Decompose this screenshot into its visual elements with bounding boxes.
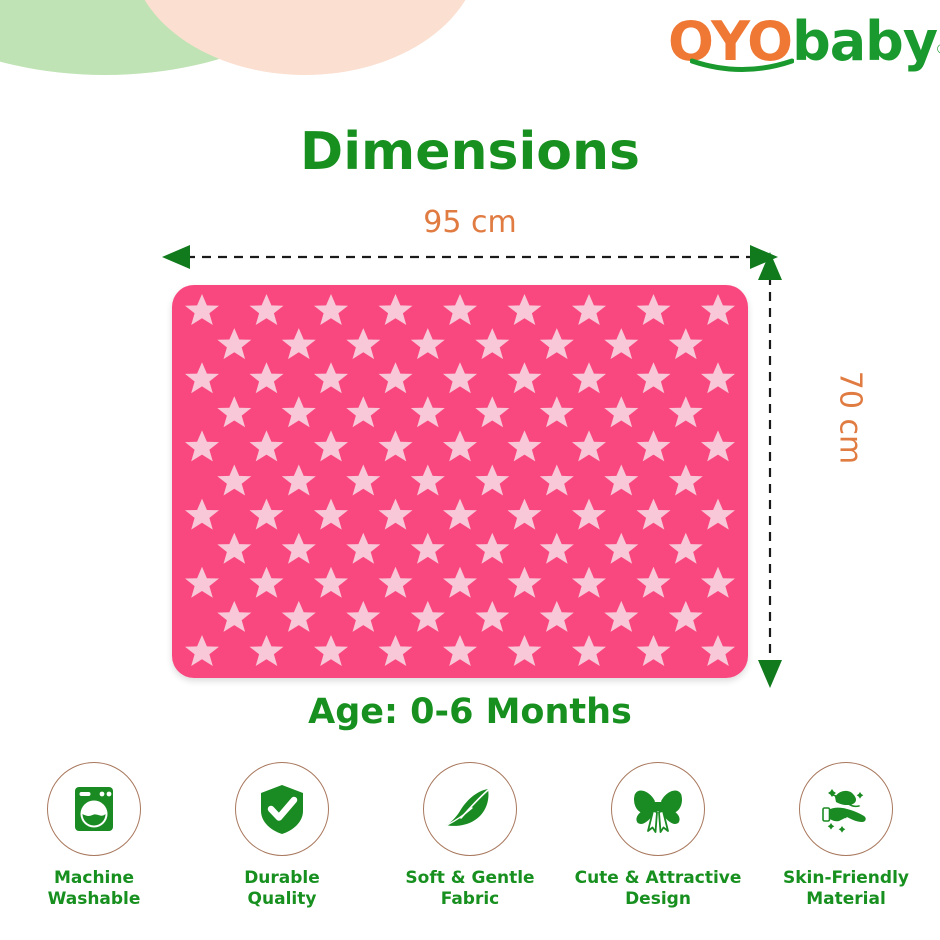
feature-icon-circle [235,762,329,856]
feature-label-line2: Quality [248,889,317,909]
page-title: Dimensions [0,122,940,182]
feature-label: Skin-Friendly Material [757,868,935,911]
bow-ribbon-icon [629,781,687,837]
feature-label-line1: Cute & Attractive [575,868,742,888]
feature-item-soft-gentle-fabric: Soft & Gentle Fabric [381,762,559,911]
feature-icon-circle [423,762,517,856]
feature-label-line2: Material [806,889,886,909]
feature-item-cute-attractive-design: Cute & Attractive Design [569,762,747,911]
feature-label-line2: Washable [48,889,141,909]
feature-list: Machine Washable Durable Quality Soft & … [0,762,940,911]
shield-check-icon [254,781,310,837]
feature-label: Cute & Attractive Design [569,868,747,911]
feature-label-line2: Design [625,889,691,909]
feature-label-line1: Skin-Friendly [783,868,909,888]
product-mat-image [172,285,748,678]
feature-label-line1: Machine [54,868,134,888]
feature-label-line1: Soft & Gentle [405,868,534,888]
logo-baby-text: baby [792,10,937,73]
age-range-text: Age: 0-6 Months [0,692,940,732]
smile-swoosh-icon [690,58,794,74]
feature-item-skin-friendly-material: Skin-Friendly Material [757,762,935,911]
feature-item-durable-quality: Durable Quality [193,762,371,911]
feature-item-machine-washable: Machine Washable [5,762,183,911]
green-blob [0,0,340,75]
brand-logo: OYObaby® [668,12,918,84]
feature-icon-circle [47,762,141,856]
feature-icon-circle [611,762,705,856]
feature-label-line2: Fabric [441,889,500,909]
feature-label: Machine Washable [5,868,183,911]
hand-bird-sparkle-icon [817,781,875,837]
feature-label-line1: Durable [244,868,320,888]
feature-icon-circle [799,762,893,856]
peach-blob [130,0,480,75]
height-dimension-label: 70 cm [833,348,868,488]
feature-label: Soft & Gentle Fabric [381,868,559,911]
mat-star-pattern [172,285,748,678]
feature-label: Durable Quality [193,868,371,911]
width-dimension-arrow [160,242,780,272]
width-dimension-label: 95 cm [0,205,940,240]
feather-icon [442,781,498,837]
washing-machine-icon [66,781,122,837]
height-dimension-arrow [755,250,785,690]
